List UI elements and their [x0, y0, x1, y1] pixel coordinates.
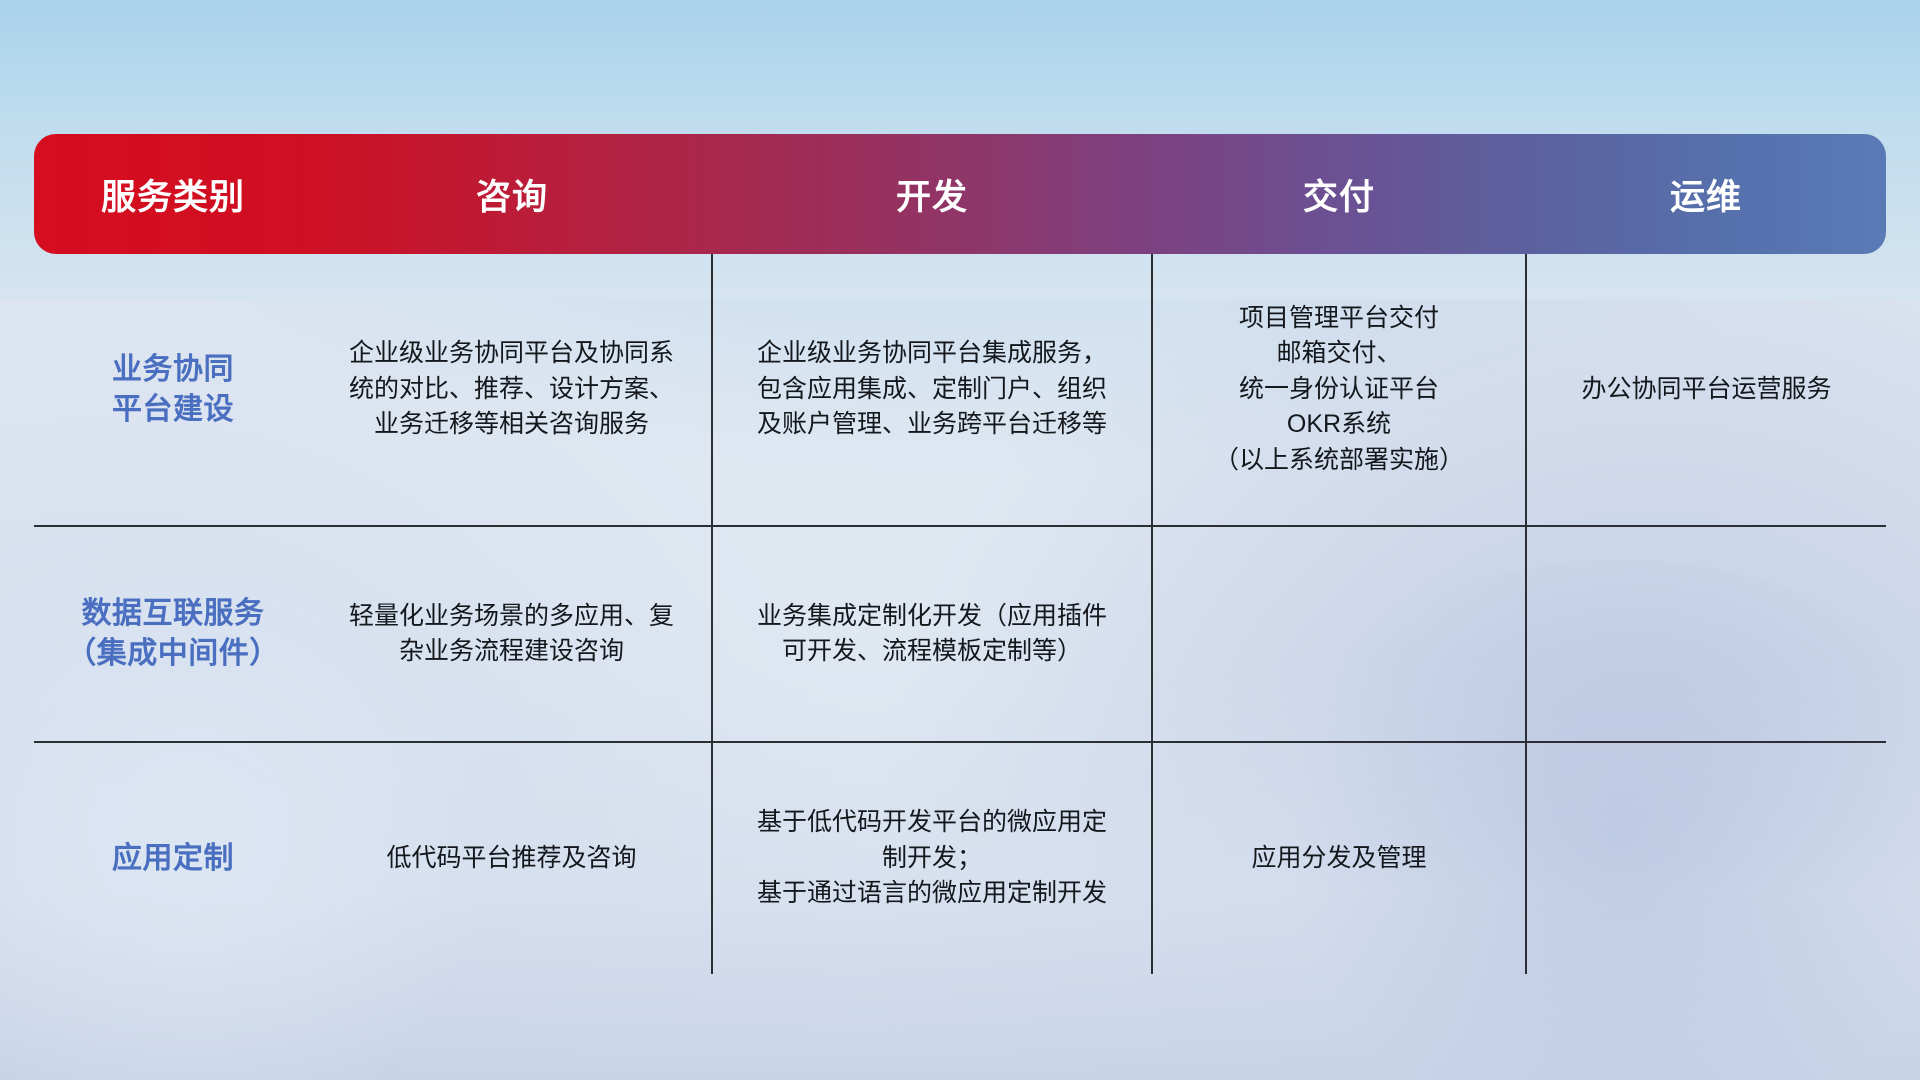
row-category-label: 数据互联服务 （集成中间件）	[34, 526, 312, 742]
cell-delivery: 应用分发及管理	[1152, 742, 1526, 974]
cell-operations	[1526, 742, 1886, 974]
service-matrix-container: 服务类别 咨询 开发 交付 运维 业务协同 平台建设 企业级业务协同平台及协同系…	[34, 134, 1886, 974]
table-header: 服务类别 咨询 开发 交付 运维	[34, 134, 1886, 254]
column-header-delivery: 交付	[1152, 134, 1526, 254]
column-header-consulting: 咨询	[312, 134, 712, 254]
table-row: 业务协同 平台建设 企业级业务协同平台及协同系 统的对比、推荐、设计方案、 业务…	[34, 254, 1886, 526]
cell-development: 基于低代码开发平台的微应用定 制开发； 基于通过语言的微应用定制开发	[712, 742, 1152, 974]
service-matrix-table: 服务类别 咨询 开发 交付 运维 业务协同 平台建设 企业级业务协同平台及协同系…	[34, 134, 1886, 974]
table-header-row: 服务类别 咨询 开发 交付 运维	[34, 134, 1886, 254]
cell-operations: 办公协同平台运营服务	[1526, 254, 1886, 526]
row-category-label: 业务协同 平台建设	[34, 254, 312, 526]
cell-development: 业务集成定制化开发（应用插件 可开发、流程模板定制等）	[712, 526, 1152, 742]
column-header-operations: 运维	[1526, 134, 1886, 254]
cell-consulting: 轻量化业务场景的多应用、复 杂业务流程建设咨询	[312, 526, 712, 742]
cell-consulting: 企业级业务协同平台及协同系 统的对比、推荐、设计方案、 业务迁移等相关咨询服务	[312, 254, 712, 526]
column-header-development: 开发	[712, 134, 1152, 254]
table-row: 应用定制 低代码平台推荐及咨询 基于低代码开发平台的微应用定 制开发； 基于通过…	[34, 742, 1886, 974]
table-row: 数据互联服务 （集成中间件） 轻量化业务场景的多应用、复 杂业务流程建设咨询 业…	[34, 526, 1886, 742]
cell-delivery: 项目管理平台交付 邮箱交付、 统一身份认证平台 OKR系统 （以上系统部署实施）	[1152, 254, 1526, 526]
table-body: 业务协同 平台建设 企业级业务协同平台及协同系 统的对比、推荐、设计方案、 业务…	[34, 254, 1886, 974]
row-category-label: 应用定制	[34, 742, 312, 974]
cell-operations	[1526, 526, 1886, 742]
column-header-service-category: 服务类别	[34, 134, 312, 254]
cell-delivery	[1152, 526, 1526, 742]
cell-development: 企业级业务协同平台集成服务， 包含应用集成、定制门户、组织 及账户管理、业务跨平…	[712, 254, 1152, 526]
cell-consulting: 低代码平台推荐及咨询	[312, 742, 712, 974]
